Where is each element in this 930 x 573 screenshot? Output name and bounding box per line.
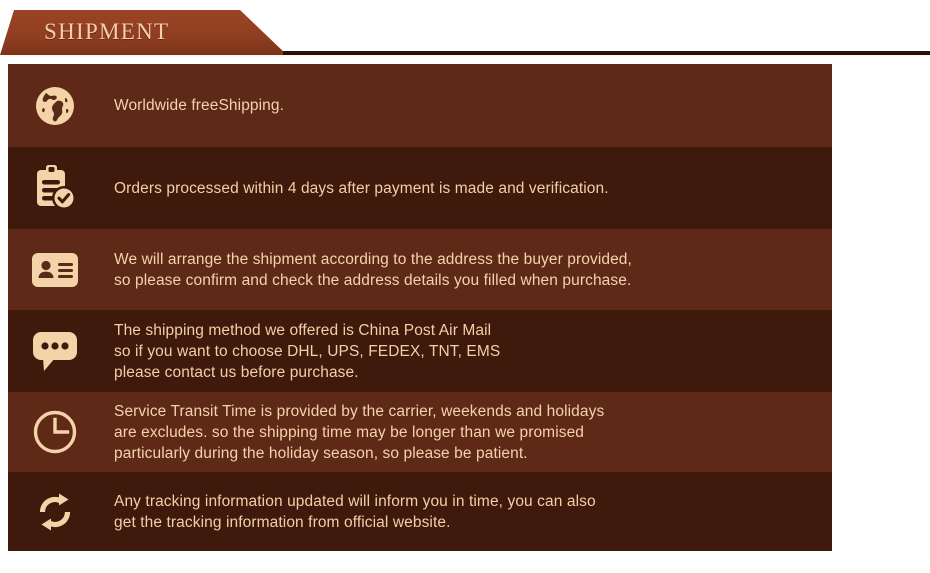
info-row: Worldwide freeShipping. [8,64,832,147]
info-row-text: The shipping method we offered is China … [114,320,500,383]
refresh-cycle-icon [26,486,84,538]
header-banner: SHIPMENT [0,10,300,55]
clipboard-check-icon [26,162,84,214]
page-title: SHIPMENT [44,19,169,45]
info-row-text: Worldwide freeShipping. [114,95,284,116]
info-row: The shipping method we offered is China … [8,310,832,392]
speech-bubble-icon [26,325,84,377]
shipment-info-panel: Worldwide freeShipping. Orders processed… [8,64,832,551]
info-row: Service Transit Time is provided by the … [8,392,832,472]
info-row-text: Any tracking information updated will in… [114,491,596,533]
info-row: Any tracking information updated will in… [8,472,832,551]
id-card-icon [26,244,84,296]
info-row: We will arrange the shipment according t… [8,229,832,310]
info-row: Orders processed within 4 days after pay… [8,147,832,229]
info-row-text: We will arrange the shipment according t… [114,249,632,291]
info-row-text: Service Transit Time is provided by the … [114,401,604,464]
globe-icon [26,80,84,132]
header-divider-light [0,55,930,57]
info-row-text: Orders processed within 4 days after pay… [114,178,609,199]
clock-icon [26,406,84,458]
